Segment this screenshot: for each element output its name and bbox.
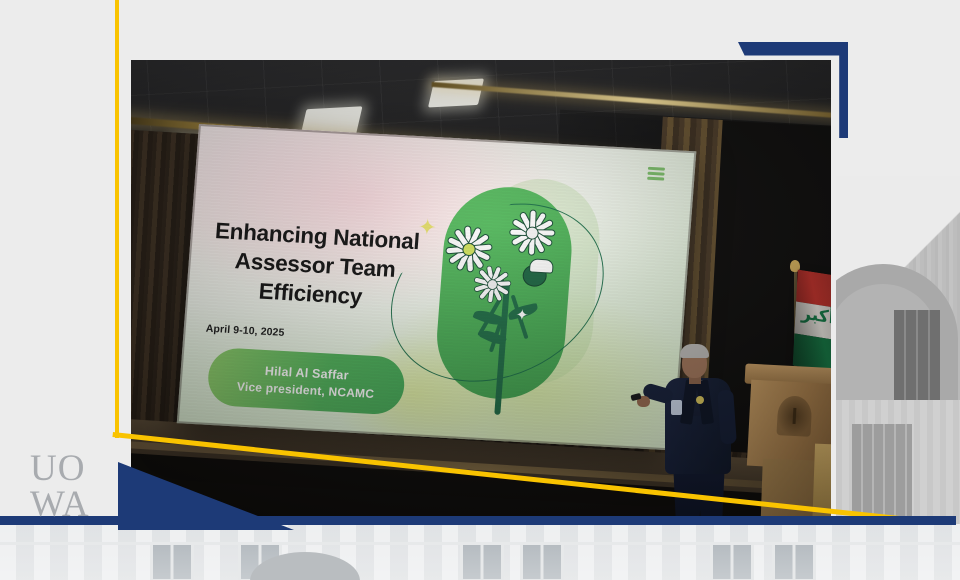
facade-window <box>772 542 816 580</box>
projection-scanlines <box>177 124 697 451</box>
facade-window <box>150 542 194 580</box>
uowa-logo: UO WA <box>30 452 110 528</box>
facade-shrub <box>250 552 360 580</box>
facade-watermark <box>0 524 960 580</box>
iraqi-flag: الله أكبر <box>793 270 831 375</box>
facade-window <box>710 542 754 580</box>
facade-window <box>460 542 504 580</box>
presenter-pin <box>696 396 704 404</box>
facade-window <box>520 542 564 580</box>
podium-emblem <box>776 395 812 437</box>
flag-shading <box>793 270 831 375</box>
slide-surface: ✦ ✦ Enhancing National Assessor Team Eff… <box>177 124 697 451</box>
logo-line-1: UO <box>30 452 110 486</box>
presenter-hair <box>680 344 709 358</box>
yellow-vertical-accent <box>115 0 119 438</box>
projection-screen: ✦ ✦ Enhancing National Assessor Team Eff… <box>177 124 697 451</box>
page-canvas: ✦ ✦ Enhancing National Assessor Team Eff… <box>0 0 960 580</box>
logo-line-2: WA <box>30 488 110 522</box>
facade-mullion <box>0 542 960 545</box>
presenter-id-badge <box>671 400 682 415</box>
navy-bottom-bar <box>0 516 956 525</box>
facade-window <box>238 542 282 580</box>
